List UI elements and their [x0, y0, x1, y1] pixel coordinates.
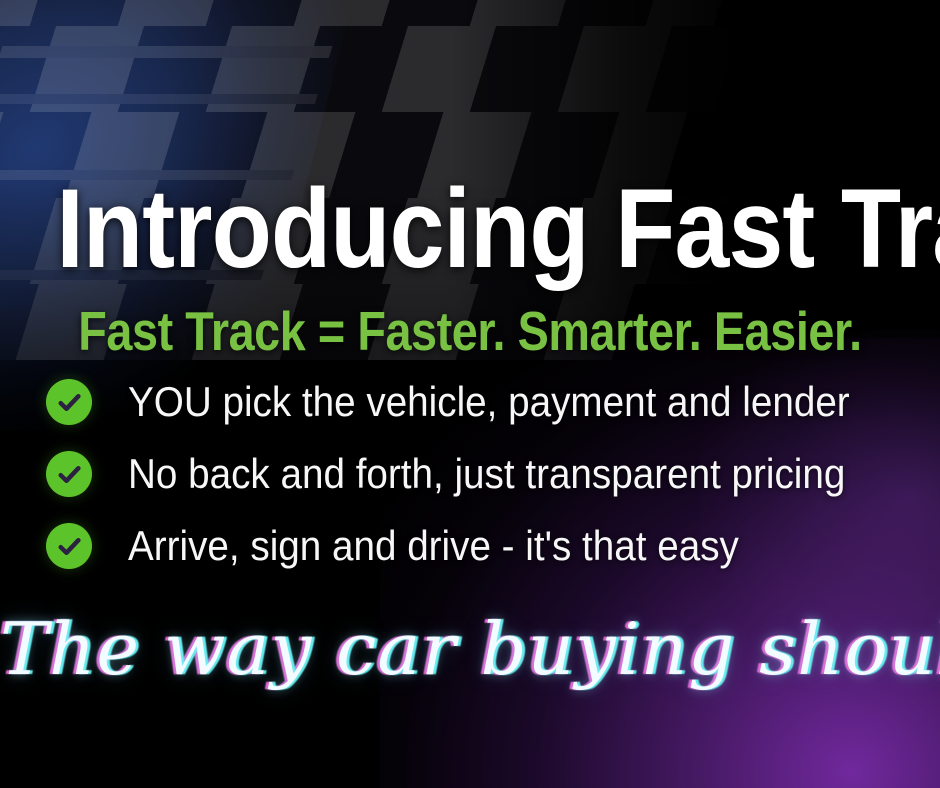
- list-item: Arrive, sign and drive - it's that easy: [46, 518, 906, 574]
- list-item-label: YOU pick the vehicle, payment and lender: [128, 381, 850, 423]
- tagline: The way car buying should be.: [0, 608, 940, 691]
- headline: Introducing Fast Track: [56, 173, 883, 285]
- check-circle-icon: [46, 523, 92, 569]
- tagline-block: The way car buying should be. The way ca…: [0, 608, 940, 728]
- list-item-label: Arrive, sign and drive - it's that easy: [128, 525, 739, 567]
- list-item: YOU pick the vehicle, payment and lender: [46, 374, 906, 430]
- check-circle-icon: [46, 379, 92, 425]
- promo-poster: Introducing Fast Track Fast Track = Fast…: [0, 0, 940, 788]
- list-item: No back and forth, just transparent pric…: [46, 446, 906, 502]
- benefit-list: YOU pick the vehicle, payment and lender…: [46, 374, 906, 590]
- list-item-label: No back and forth, just transparent pric…: [128, 453, 845, 495]
- subheadline: Fast Track = Faster. Smarter. Easier.: [71, 304, 870, 359]
- check-circle-icon: [46, 451, 92, 497]
